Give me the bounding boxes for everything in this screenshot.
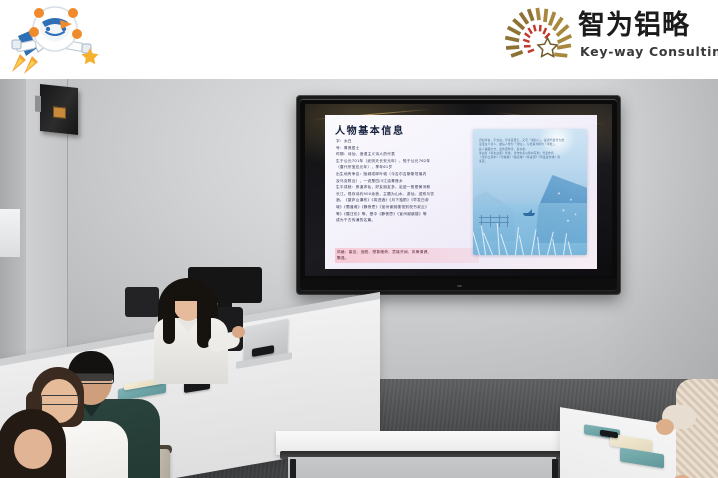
slide-line: 及马克附近），一说是四川江油青莲乡 — [336, 178, 466, 185]
head — [14, 429, 52, 469]
slide-line: 时期：诗仙、浪漫主义诗人的代表 — [336, 151, 466, 158]
slide-line: 生平成就：崇道求仙，好友朋友多，足迹一般是黄河和 — [336, 184, 466, 191]
table-modesty-panel — [288, 457, 556, 478]
company-logo: 智为铝略 Key-way Consulting — [500, 4, 710, 74]
glasses-icon — [40, 395, 80, 405]
slide-illustration: 诗仙李白，字太白，号青莲居士，又号「谪仙人」，是唐代最伟大的 浪漫主义诗人，被后… — [473, 129, 587, 255]
attendee-woman-front — [0, 409, 104, 478]
hand — [232, 326, 245, 338]
keyway-sunburst-icon — [500, 6, 580, 72]
slide-line: 号：青莲居士 — [336, 145, 466, 152]
slide-line: （唐代宗宝应元年），享年61岁 — [336, 164, 466, 171]
table-leg — [552, 459, 558, 478]
slide-body-text: 字：太白 号：青莲居士 时期：诗仙、浪漫主义诗人的代表 生于公元701年（武则天… — [336, 138, 466, 224]
slide-line: 出生地有争议：陇城或碎叶城（今吉尔吉斯斯坦境内 — [336, 171, 466, 178]
slide-highlighted-note: 风格：豪迈、洒脱、想象瑰奇、意境开阔、风骨清健、 飘逸。 — [335, 248, 479, 263]
speaker-tweeter — [53, 106, 66, 118]
logo-chinese-text: 智为铝略 — [578, 10, 690, 42]
slide-line: 字：太白 — [336, 138, 466, 145]
window-sliver — [0, 209, 20, 257]
illustration-caption: 诗仙李白，字太白，号青莲居士，又号「谪仙人」，是唐代最伟大的 浪漫主义诗人，被后… — [479, 138, 579, 164]
presentation-display[interactable]: 人物基本信息 字：太白 号：青莲居士 时期：诗仙、浪漫主义诗人的代表 生于公元7… — [297, 96, 620, 294]
conference-room-photo: 人物基本信息 字：太白 号：青莲居士 时期：诗仙、浪漫主义诗人的代表 生于公元7… — [0, 79, 718, 478]
slide-highlight-line: 风格：豪迈、洒脱、想象瑰奇、意境开阔、风骨清健、 — [337, 249, 477, 256]
boat — [523, 213, 535, 216]
display-status-led — [457, 285, 462, 287]
wall-speaker — [40, 84, 78, 135]
slide-line: 城》《蜀道难》《静夜思》《宣州谢朓楼饯别校书叔云》 — [336, 204, 466, 211]
slide-line: 成为千古传诵的名篇。 — [336, 217, 466, 224]
astronaut-mascot-icon — [6, 2, 102, 76]
slide-line: 生于公元701年（武则天长安元年），殁于公元762年 — [336, 158, 466, 165]
table-leg — [290, 459, 296, 478]
slide-highlight-line: 飘逸。 — [337, 255, 477, 262]
attendee-right-partial — [676, 379, 718, 478]
slide-content-card: 人物基本信息 字：太白 号：青莲居士 时期：诗仙、浪漫主义诗人的代表 生于公元7… — [325, 115, 597, 269]
presenter-woman — [148, 274, 244, 384]
caption-line: 多首。 — [479, 159, 579, 163]
speaker-bracket — [35, 95, 41, 112]
slide-line: 长江。现存诗约900余首，主题为山水、游仙、送别与饮 — [336, 191, 466, 198]
slide-line: 等》《赠汪伦》等，是中《静夜思》《宣州谢朓楼》等 — [336, 211, 466, 218]
hair-side — [163, 292, 175, 344]
slide-background: 人物基本信息 字：太白 号：青莲居士 时期：诗仙、浪漫主义诗人的代表 生于公元7… — [305, 104, 612, 276]
screenshot-root: 智为铝略 Key-way Consulting — [0, 0, 718, 478]
logo-english-text: Key-way Consulting — [580, 44, 718, 59]
hand — [656, 419, 674, 435]
slide-title: 人物基本信息 — [335, 122, 405, 137]
brand-header-bar: 智为铝略 Key-way Consulting — [0, 0, 718, 79]
reed-cluster — [473, 221, 587, 255]
slide-line: 酒。《望庐山瀑布》《将进酒》《月下独酌》《早发白帝 — [336, 197, 466, 204]
